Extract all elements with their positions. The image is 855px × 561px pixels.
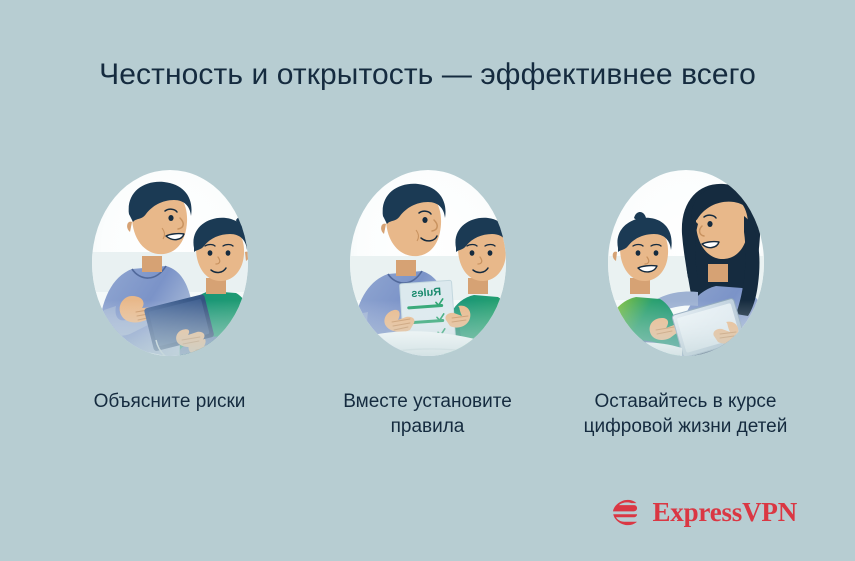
expressvpn-e-mark-icon [608, 495, 642, 529]
illustration-father-and-son-with-rules-sheet: Rules [328, 160, 528, 375]
illustration-columns: Объясните риски [0, 160, 855, 439]
column-stay-informed: Оставайтесь в курсе цифровой жизни детей [557, 160, 815, 439]
column-explain-risks: Объясните риски [41, 160, 299, 439]
illustration-father-and-son-with-tablet [70, 160, 270, 375]
page-title: Честность и открытость — эффективнее все… [70, 55, 785, 95]
caption-explain-risks: Объясните риски [65, 389, 275, 414]
infographic-canvas: Честность и открытость — эффективнее все… [0, 0, 855, 561]
illustration-mother-and-son-with-tablet [586, 160, 786, 375]
caption-stay-informed: Оставайтесь в курсе цифровой жизни детей [581, 389, 791, 439]
column-set-rules-together: Rules [299, 160, 557, 439]
rules-sheet-label: Rules [410, 286, 441, 300]
expressvpn-logo[interactable]: ExpressVPN [608, 495, 797, 529]
caption-set-rules-together: Вместе установите правила [323, 389, 533, 439]
expressvpn-wordmark: ExpressVPN [652, 499, 797, 526]
